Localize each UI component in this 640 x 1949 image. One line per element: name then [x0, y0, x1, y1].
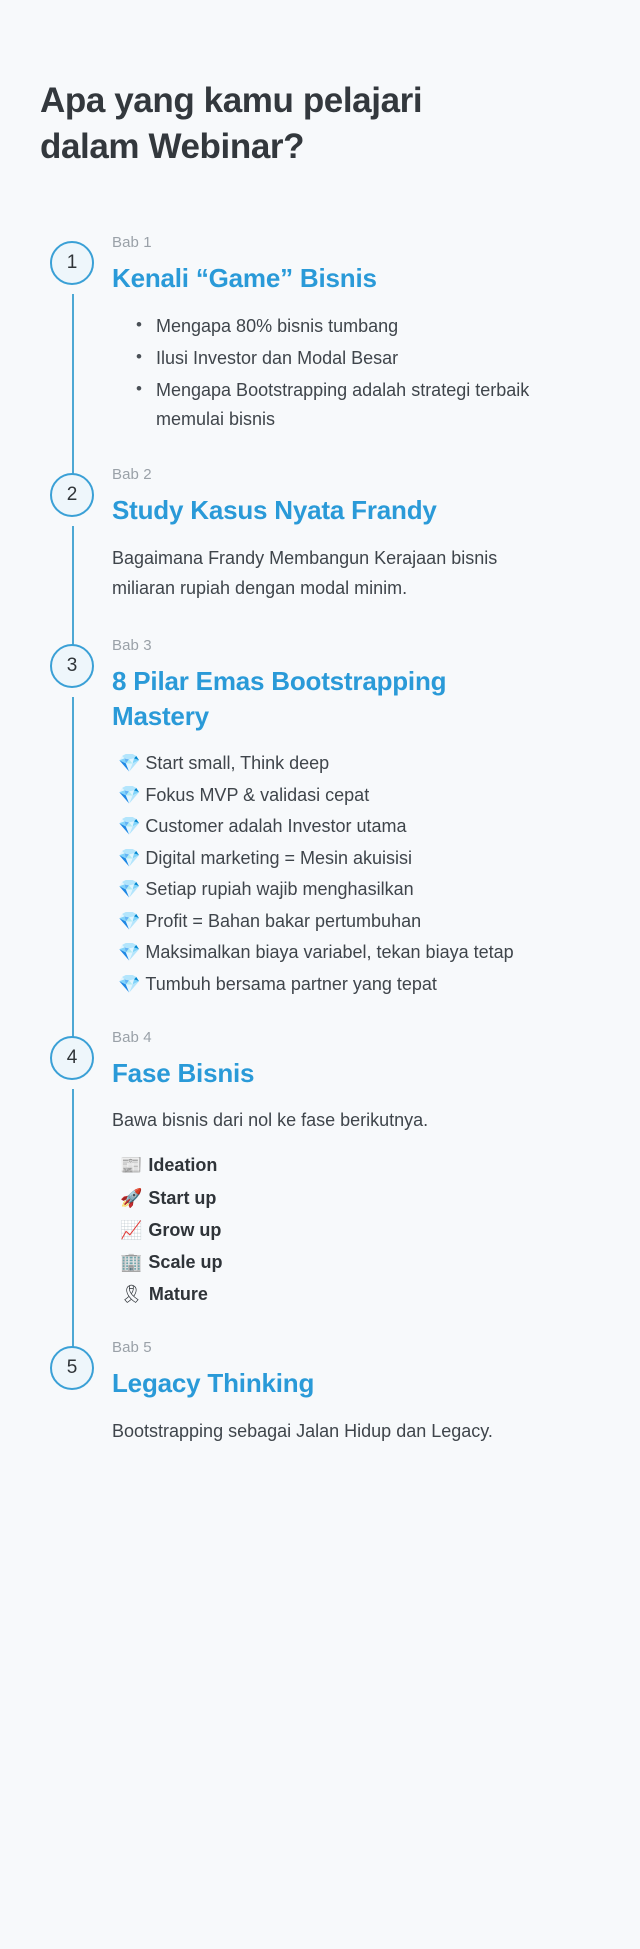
gem-icon: 💎 — [118, 848, 140, 868]
list-item: 💎Start small, Think deep — [112, 749, 562, 779]
list-item-label: Scale up — [148, 1252, 222, 1272]
chapter-description: Bootstrapping sebagai Jalan Hidup dan Le… — [112, 1417, 542, 1447]
chapter-kicker: Bab 1 — [112, 234, 600, 252]
list-item: 💎Profit = Bahan bakar pertumbuhan — [112, 907, 562, 937]
gem-icon: 💎 — [118, 816, 140, 836]
chapter-kicker: Bab 4 — [112, 1029, 600, 1047]
chart-increasing-icon: 📈 — [120, 1220, 142, 1240]
chapter-bullet-list: Mengapa 80% bisnis tumbang Ilusi Investo… — [112, 312, 552, 435]
gem-icon: 💎 — [118, 974, 140, 994]
list-item: Mengapa 80% bisnis tumbang — [134, 312, 552, 341]
timeline-connector — [72, 294, 74, 476]
list-item: 💎Fokus MVP & validasi cepat — [112, 781, 562, 811]
chapter-number-badge: 4 — [50, 1036, 94, 1080]
chapter-item-3: 3 Bab 3 8 Pilar Emas Bootstrapping Maste… — [40, 637, 600, 1029]
list-item-label: Tumbuh bersama partner yang tepat — [145, 974, 437, 994]
list-item: 💎Digital marketing = Mesin akuisisi — [112, 844, 562, 874]
list-item: 🚀Start up — [112, 1183, 600, 1213]
list-item: 💎Tumbuh bersama partner yang tepat — [112, 970, 562, 1000]
list-item-label: Profit = Bahan bakar pertumbuhan — [145, 911, 421, 931]
list-item-label: Customer adalah Investor utama — [145, 816, 406, 836]
gem-icon: 💎 — [118, 753, 140, 773]
chapter-kicker: Bab 3 — [112, 637, 600, 655]
chapter-kicker: Bab 2 — [112, 466, 600, 484]
list-item: 💎Maksimalkan biaya variabel, tekan biaya… — [112, 938, 562, 968]
phase-list: 📰Ideation 🚀Start up 📈Grow up 🏢Scale up 🎗… — [112, 1150, 600, 1309]
page-title: Apa yang kamu pelajari dalam Webinar? — [40, 78, 500, 170]
list-item-label: Setiap rupiah wajib menghasilkan — [145, 879, 413, 899]
timeline-connector — [72, 1089, 74, 1349]
list-item-label: Start small, Think deep — [145, 753, 329, 773]
gem-icon: 💎 — [118, 785, 140, 805]
chapter-title: 8 Pilar Emas Bootstrapping Mastery — [112, 664, 542, 733]
list-item: 💎Setiap rupiah wajib menghasilkan — [112, 875, 562, 905]
chapter-description: Bawa bisnis dari nol ke fase berikutnya. — [112, 1106, 542, 1136]
list-item: 🏢Scale up — [112, 1247, 600, 1277]
list-item: 🎗Mature — [112, 1279, 600, 1309]
chapter-title: Fase Bisnis — [112, 1056, 542, 1090]
list-item-label: Fokus MVP & validasi cepat — [145, 785, 369, 805]
list-item: 📈Grow up — [112, 1215, 600, 1245]
chapter-title: Legacy Thinking — [112, 1366, 542, 1400]
reminder-ribbon-icon: 🎗 — [120, 1284, 143, 1304]
pillar-list: 💎Start small, Think deep 💎Fokus MVP & va… — [112, 749, 562, 999]
chapter-number-badge: 3 — [50, 644, 94, 688]
rocket-icon: 🚀 — [120, 1188, 142, 1208]
list-item: Ilusi Investor dan Modal Besar — [134, 344, 552, 373]
chapter-number-badge: 1 — [50, 241, 94, 285]
office-building-icon: 🏢 — [120, 1252, 142, 1272]
gem-icon: 💎 — [118, 911, 140, 931]
chapter-item-2: 2 Bab 2 Study Kasus Nyata Frandy Bagaima… — [40, 466, 600, 637]
gem-icon: 💎 — [118, 942, 140, 962]
chapter-item-1: 1 Bab 1 Kenali “Game” Bisnis Mengapa 80%… — [40, 234, 600, 466]
timeline-connector — [72, 526, 74, 647]
chapter-number-badge: 5 — [50, 1346, 94, 1390]
chapter-timeline: 1 Bab 1 Kenali “Game” Bisnis Mengapa 80%… — [40, 234, 600, 1446]
timeline-connector — [72, 697, 74, 1039]
gem-icon: 💎 — [118, 879, 140, 899]
list-item-label: Maksimalkan biaya variabel, tekan biaya … — [145, 942, 513, 962]
chapter-number-badge: 2 — [50, 473, 94, 517]
chapter-kicker: Bab 5 — [112, 1339, 600, 1357]
list-item-label: Start up — [148, 1188, 216, 1208]
list-item-label: Mature — [149, 1284, 208, 1304]
list-item: 💎Customer adalah Investor utama — [112, 812, 562, 842]
list-item-label: Digital marketing = Mesin akuisisi — [145, 848, 412, 868]
list-item: 📰Ideation — [112, 1150, 600, 1180]
chapter-title: Study Kasus Nyata Frandy — [112, 493, 542, 527]
chapter-title: Kenali “Game” Bisnis — [112, 261, 542, 295]
chapter-item-4: 4 Bab 4 Fase Bisnis Bawa bisnis dari nol… — [40, 1029, 600, 1339]
list-item: Mengapa Bootstrapping adalah strategi te… — [134, 376, 552, 434]
newspaper-icon: 📰 — [120, 1155, 142, 1175]
chapter-item-5: 5 Bab 5 Legacy Thinking Bootstrapping se… — [40, 1339, 600, 1446]
chapter-description: Bagaimana Frandy Membangun Kerajaan bisn… — [112, 544, 542, 604]
webinar-curriculum-page: Apa yang kamu pelajari dalam Webinar? 1 … — [0, 0, 640, 1949]
list-item-label: Ideation — [148, 1155, 217, 1175]
list-item-label: Grow up — [148, 1220, 221, 1240]
